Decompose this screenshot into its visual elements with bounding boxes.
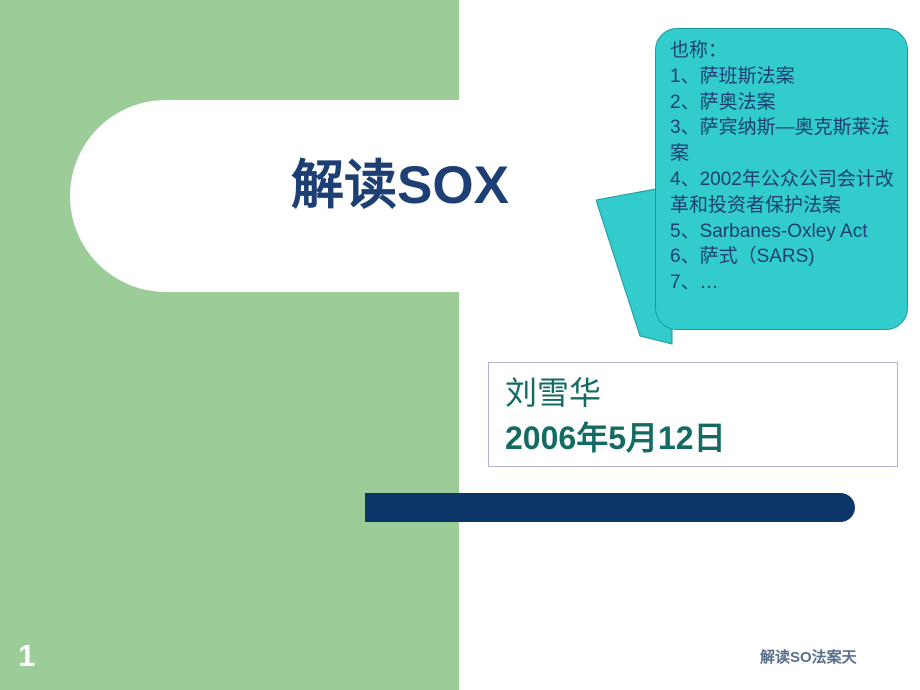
author-name: 刘雪华 (505, 371, 726, 416)
author-info-box: 刘雪华 2006年5月12日 (488, 362, 898, 467)
navy-accent-bar (365, 493, 855, 522)
author-info-lines: 刘雪华 2006年5月12日 (505, 371, 726, 461)
slide-title: 解读SOX (200, 158, 600, 214)
slide-footer-text: 解读SO法案天 (760, 650, 857, 665)
callout-bubble: 也称： 1、萨班斯法案 2、萨奥法案 3、萨宾纳斯—奥克斯莱法案 4、2002年… (655, 28, 908, 330)
callout-bubble-text: 也称： 1、萨班斯法案 2、萨奥法案 3、萨宾纳斯—奥克斯莱法案 4、2002年… (670, 38, 902, 296)
presentation-date: 2006年5月12日 (505, 416, 726, 461)
presentation-slide: 解读SOX 也称： 1、萨班斯法案 2、萨奥法案 3、萨宾纳斯—奥克斯莱法案 4… (0, 0, 920, 690)
page-number: 1 (18, 640, 35, 671)
